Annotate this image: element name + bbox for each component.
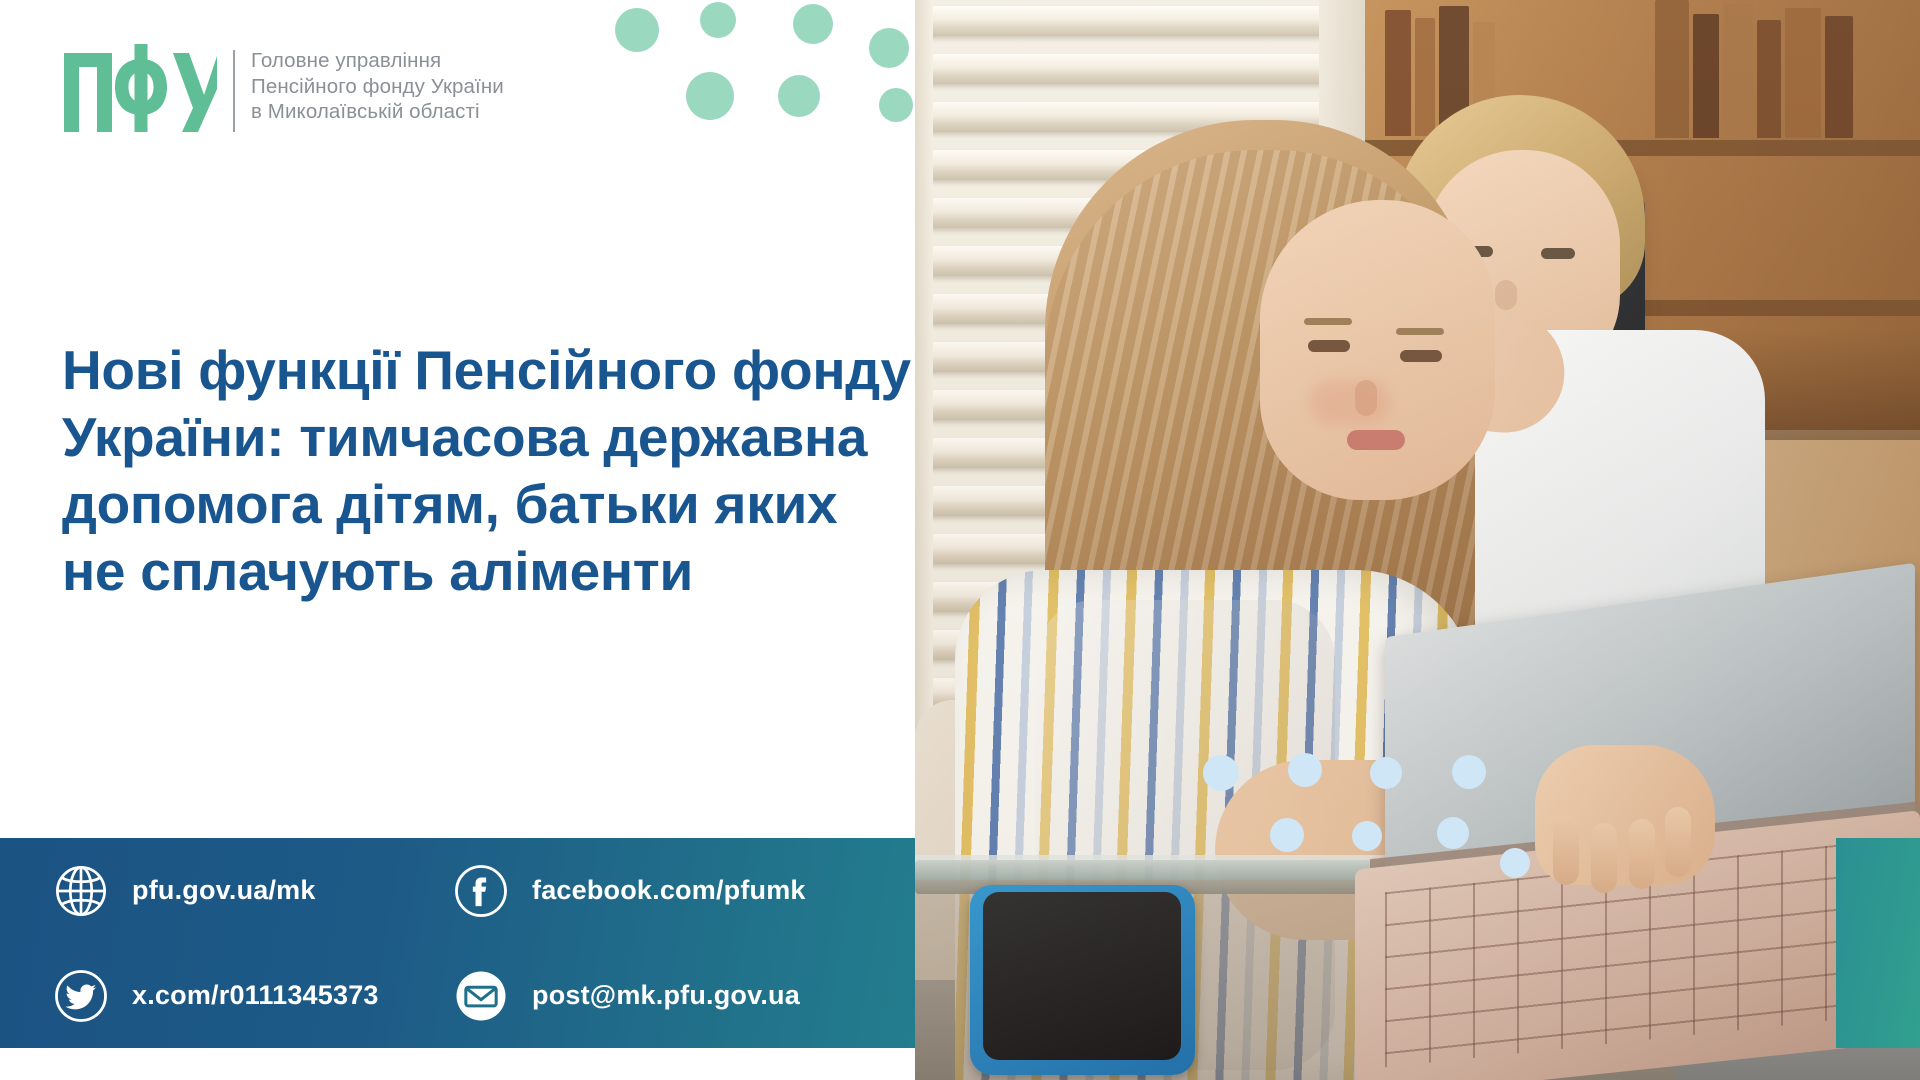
blue-dot xyxy=(1203,755,1239,791)
contact-website-text: pfu.gov.ua/mk xyxy=(132,875,316,906)
green-dot xyxy=(615,8,659,52)
contact-twitter-text: x.com/r0111345373 xyxy=(132,980,379,1011)
contact-website[interactable]: pfu.gov.ua/mk xyxy=(52,862,452,920)
blue-dot xyxy=(1452,755,1486,789)
blue-dot xyxy=(1352,821,1382,851)
green-dot xyxy=(879,88,913,122)
contact-list: pfu.gov.ua/mk facebook.com/pfumk x.com/r… xyxy=(0,838,915,1048)
blue-dot xyxy=(1270,818,1304,852)
logo-subtitle-line-2: Пенсійного фонду України xyxy=(251,74,504,100)
blue-dot xyxy=(1500,848,1530,878)
blue-dot xyxy=(1370,757,1402,789)
photo-family-laptop xyxy=(915,0,1920,1080)
footer-accent-right xyxy=(1836,838,1920,1048)
blue-dot xyxy=(1437,817,1469,849)
logo-subtitle-line-3: в Миколаївській області xyxy=(251,99,504,125)
headline-line-2: України: тимчасова державна xyxy=(62,404,892,471)
contact-email[interactable]: post@mk.pfu.gov.ua xyxy=(452,967,915,1025)
poster-root: Головне управління Пенсійного фонду Укра… xyxy=(0,0,1920,1080)
blue-dot xyxy=(1288,753,1322,787)
logo-divider xyxy=(233,50,235,132)
twitter-icon xyxy=(52,967,110,1025)
email-icon xyxy=(452,967,510,1025)
facebook-icon xyxy=(452,862,510,920)
headline: Нові функції Пенсійного фонду України: т… xyxy=(62,337,892,605)
pfu-logo-mark xyxy=(62,44,217,132)
green-dot xyxy=(793,4,833,44)
green-dot xyxy=(686,72,734,120)
globe-icon xyxy=(52,862,110,920)
logo-subtitle: Головне управління Пенсійного фонду Укра… xyxy=(251,44,504,125)
contact-facebook[interactable]: facebook.com/pfumk xyxy=(452,862,915,920)
headline-line-1: Нові функції Пенсійного фонду xyxy=(62,337,892,404)
contact-twitter[interactable]: x.com/r0111345373 xyxy=(52,967,452,1025)
logo-subtitle-line-1: Головне управління xyxy=(251,48,504,74)
green-dot xyxy=(778,75,820,117)
contact-facebook-text: facebook.com/pfumk xyxy=(532,875,806,906)
green-dot xyxy=(869,28,909,68)
photo-color-grade xyxy=(915,0,1920,1080)
contact-email-text: post@mk.pfu.gov.ua xyxy=(532,980,800,1011)
green-dot xyxy=(700,2,736,38)
pfu-logo: Головне управління Пенсійного фонду Укра… xyxy=(62,44,504,136)
headline-line-4: не сплачують аліменти xyxy=(62,538,892,605)
headline-line-3: допомога дітям, батьки яких xyxy=(62,471,892,538)
